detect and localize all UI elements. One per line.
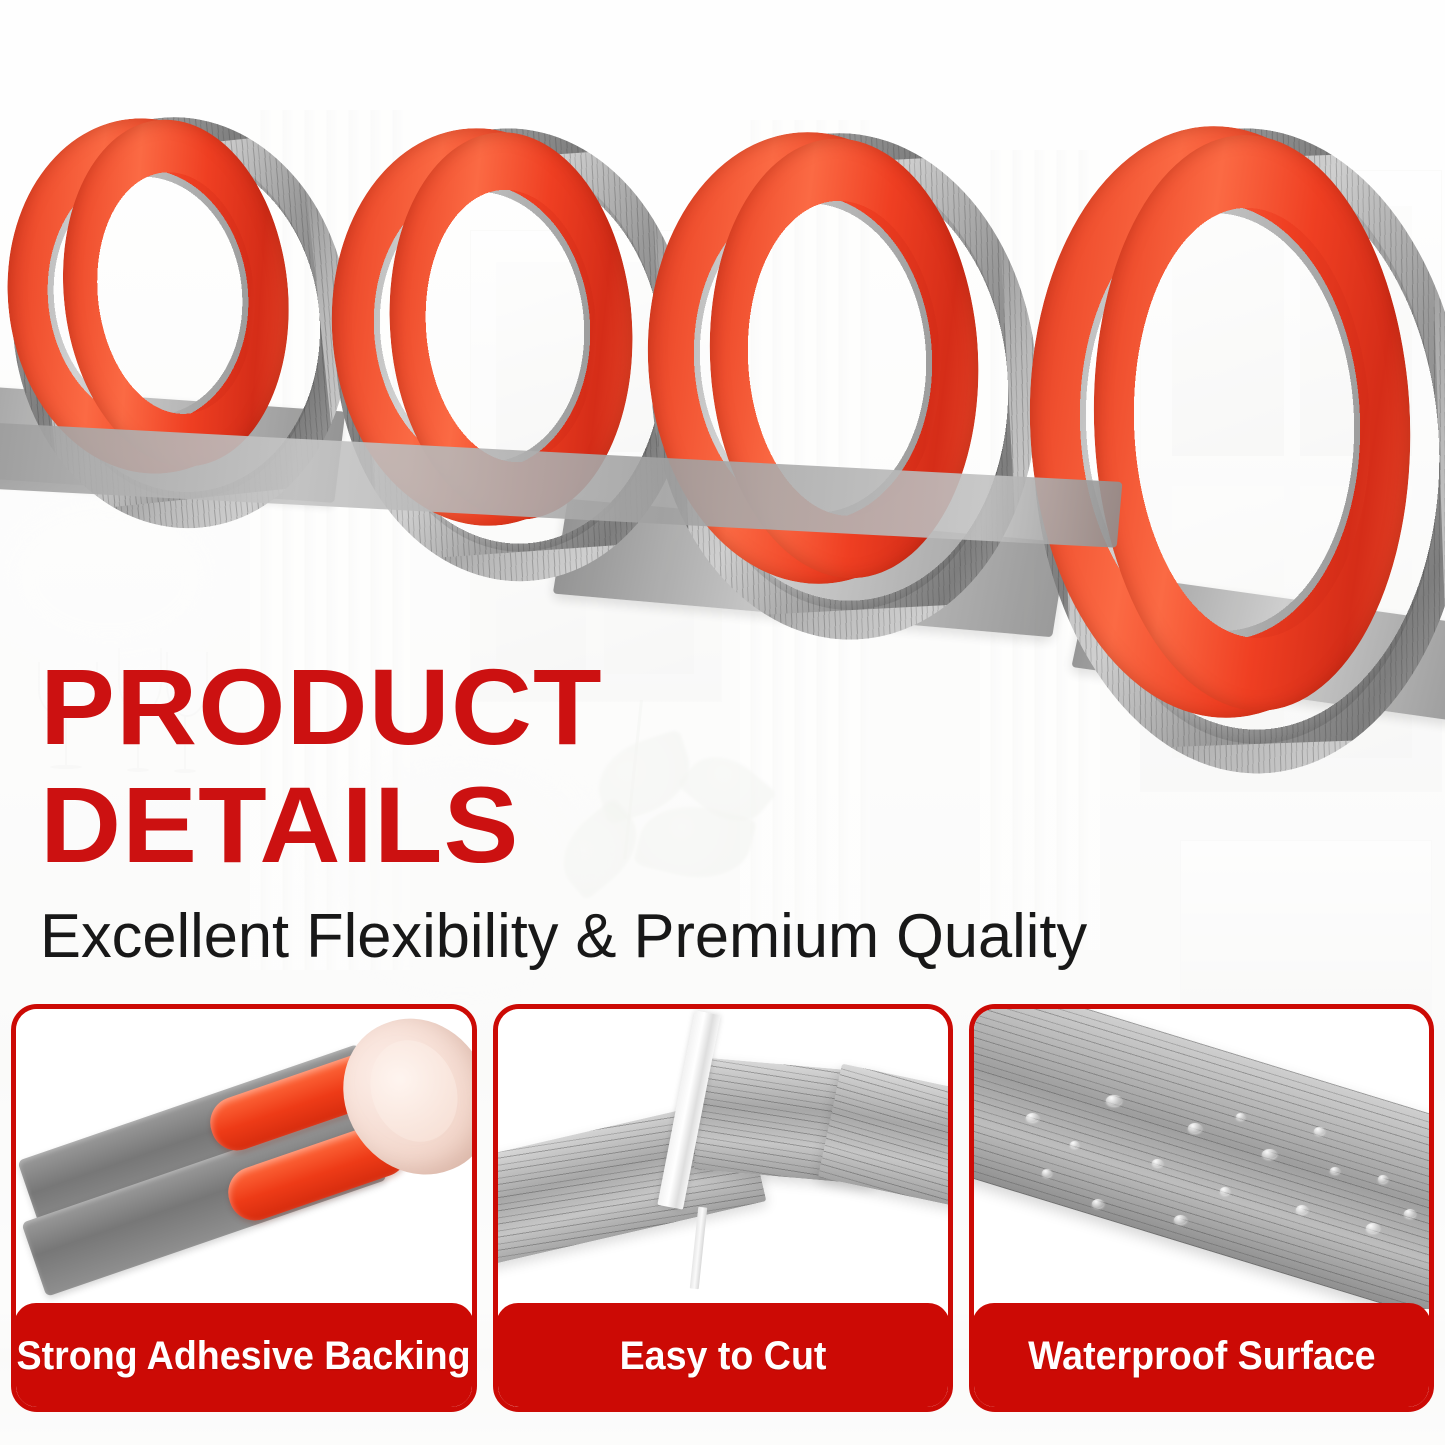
photo-waterproof-surface [974, 1009, 1429, 1309]
headline: PRODUCT DETAILS [40, 648, 940, 884]
headline-line-1: PRODUCT [40, 648, 976, 766]
card-caption-bar: Waterproof Surface [972, 1303, 1431, 1409]
card-caption-text: Strong Adhesive Backing [17, 1334, 471, 1379]
feature-card-row: Strong Adhesive Backing Easy to Cut [0, 1004, 1445, 1416]
headline-line-2: DETAILS [40, 766, 976, 884]
feature-card-waterproof[interactable]: Waterproof Surface [969, 1004, 1434, 1412]
feature-card-adhesive[interactable]: Strong Adhesive Backing [11, 1004, 477, 1412]
tape-coil-4 [1020, 120, 1420, 725]
card-caption-text: Waterproof Surface [1028, 1334, 1376, 1379]
photo-adhesive-backing [16, 1009, 472, 1309]
infographic-stage: PRODUCT DETAILS Excellent Flexibility & … [0, 0, 1445, 1445]
subtitle: Excellent Flexibility & Premium Quality [40, 902, 1087, 972]
card-caption-text: Easy to Cut [620, 1334, 827, 1379]
card-caption-bar: Strong Adhesive Backing [14, 1303, 474, 1409]
photo-easy-to-cut [498, 1009, 948, 1309]
card-caption-bar: Easy to Cut [496, 1303, 950, 1409]
feature-card-easy-cut[interactable]: Easy to Cut [493, 1004, 953, 1412]
